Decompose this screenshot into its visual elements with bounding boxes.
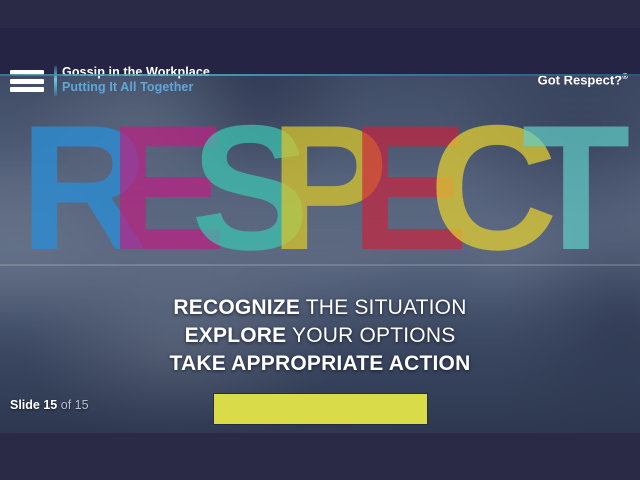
slide-counter-total: of 15 (61, 398, 89, 412)
header-accent-rule (0, 74, 640, 76)
wordmark-letter-t: T (522, 104, 621, 272)
message-line-1-rest: THE SITUATION (300, 296, 467, 319)
course-title: Gossip in the Workplace (62, 65, 210, 79)
header-titles: Gossip in the Workplace Putting It All T… (62, 65, 210, 95)
message-line-2-rest: YOUR OPTIONS (286, 324, 455, 347)
message-line-1: RECOGNIZE THE SITUATION (0, 294, 640, 322)
slide-stage: R E S P E C T RECOGNIZE THE SITUATION EX… (0, 76, 640, 433)
hamburger-menu-icon[interactable] (10, 68, 44, 94)
menu-bar-2 (10, 79, 44, 84)
menu-bar-3 (10, 87, 44, 92)
slide-counter-current: 15 (43, 398, 57, 412)
message-line-3: TAKE APPROPRIATE ACTION (0, 350, 640, 378)
presentation-player: Gossip in the Workplace Putting It All T… (0, 0, 640, 480)
message-line-2-keyword: EXPLORE (185, 324, 287, 347)
slide-counter: Slide 15 of 15 (10, 398, 89, 412)
message-line-2: EXPLORE YOUR OPTIONS (0, 322, 640, 350)
player-footer (0, 433, 640, 480)
respect-wordmark: R E S P E C T (0, 104, 640, 294)
message-line-1-keyword: RECOGNIZE (173, 296, 300, 319)
player-header: Gossip in the Workplace Putting It All T… (0, 28, 640, 76)
header-divider (54, 66, 57, 96)
cta-button[interactable] (213, 393, 428, 425)
key-message-block: RECOGNIZE THE SITUATION EXPLORE YOUR OPT… (0, 294, 640, 378)
slide-counter-prefix: Slide (10, 398, 40, 412)
lesson-subtitle: Putting It All Together (62, 80, 210, 94)
window-top-chrome (0, 0, 640, 28)
